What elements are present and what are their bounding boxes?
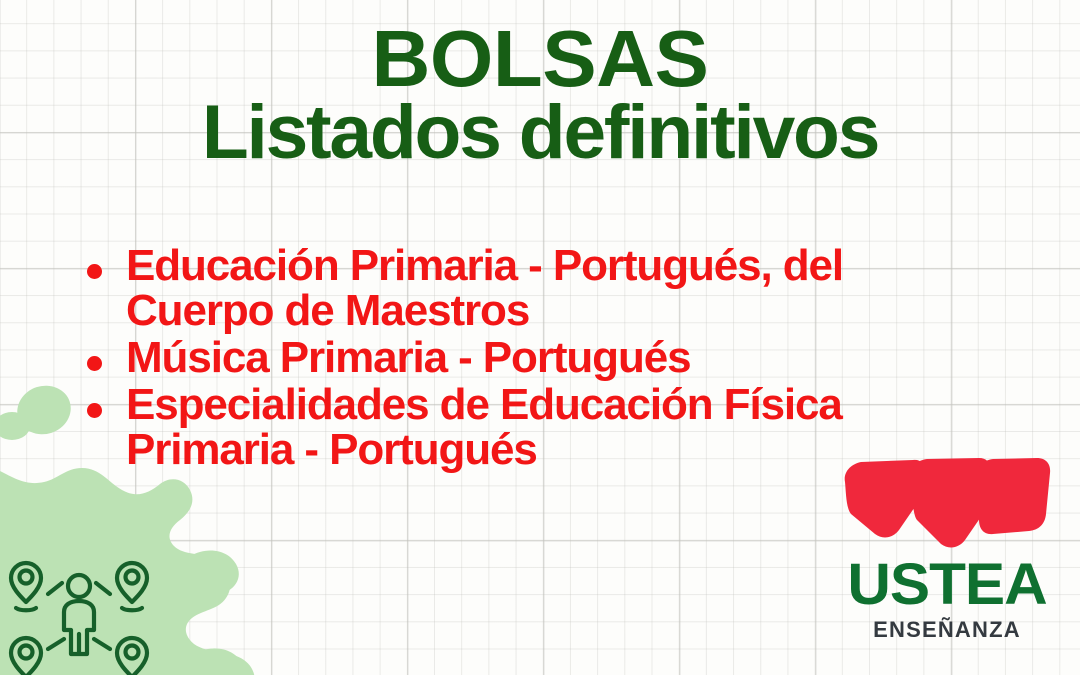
ustea-logo: USTEA ENSEÑANZA: [836, 458, 1058, 654]
poster-canvas: BOLSAS Listados definitivos Educación Pr…: [0, 0, 1080, 675]
ustea-wordmark: USTEA: [832, 556, 1063, 614]
ustea-lightning-mark: [841, 458, 1053, 554]
title-sub: Listados definitivos: [0, 98, 1080, 168]
page-title: BOLSAS Listados definitivos: [0, 22, 1080, 168]
list-item-label: Música Primaria - Portugués: [126, 333, 690, 382]
list-item-label: Especialidades de Educación Física Prima…: [126, 380, 842, 474]
community-location-pins-icon: [4, 542, 154, 675]
bullet-dot-icon: [87, 264, 102, 279]
ustea-tagline: ENSEÑANZA: [836, 619, 1058, 641]
title-main: BOLSAS: [0, 22, 1080, 96]
bullet-dot-icon: [87, 356, 102, 371]
bolsas-list: Educación Primaria - Portugués, del Cuer…: [76, 244, 976, 474]
list-item: Educación Primaria - Portugués, del Cuer…: [76, 244, 976, 334]
bullet-dot-icon: [87, 403, 102, 418]
list-item: Música Primaria - Portugués: [76, 336, 976, 381]
list-item-label: Educación Primaria - Portugués, del Cuer…: [126, 241, 843, 335]
